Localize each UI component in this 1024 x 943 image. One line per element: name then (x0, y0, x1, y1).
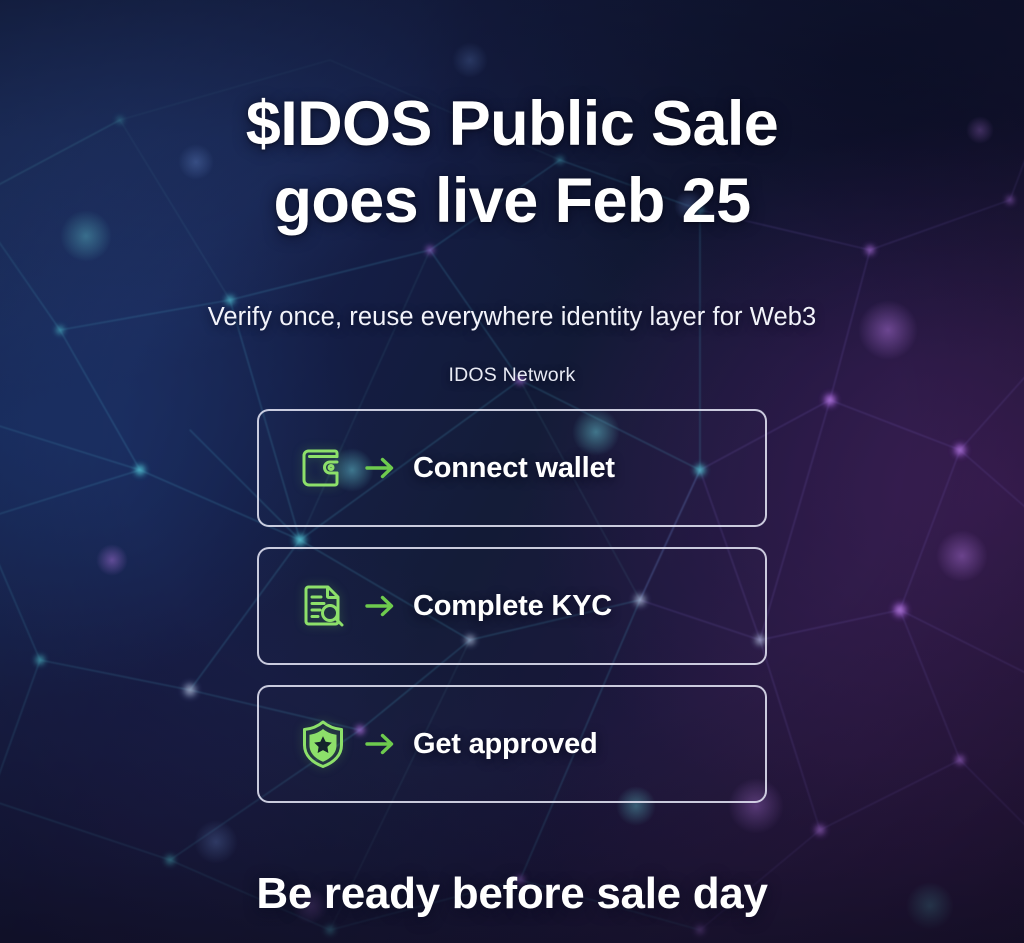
step-card-get-approved[interactable]: Get approved (257, 685, 767, 803)
arrow-right-icon (363, 591, 397, 621)
headline-line-2: goes live Feb 25 (132, 163, 892, 240)
wallet-icon (297, 442, 349, 494)
tagline: Be ready before sale day (256, 869, 767, 919)
step-card-connect-wallet[interactable]: Connect wallet (257, 409, 767, 527)
promo-banner: $IDOS Public Sale goes live Feb 25 Verif… (0, 0, 1024, 943)
headline-line-1: $IDOS Public Sale (246, 89, 779, 159)
document-search-icon (297, 580, 349, 632)
shield-star-icon (297, 718, 349, 770)
page-title: $IDOS Public Sale goes live Feb 25 (132, 86, 892, 241)
network-label: IDOS Network (448, 364, 575, 387)
step-label: Connect wallet (413, 452, 615, 485)
arrow-right-icon (363, 453, 397, 483)
step-label: Complete KYC (413, 590, 612, 623)
arrow-right-icon (363, 729, 397, 759)
step-label: Get approved (413, 728, 598, 761)
subtitle: Verify once, reuse everywhere identity l… (208, 303, 817, 332)
steps-list: Connect wallet (257, 409, 767, 803)
step-card-complete-kyc[interactable]: Complete KYC (257, 547, 767, 665)
